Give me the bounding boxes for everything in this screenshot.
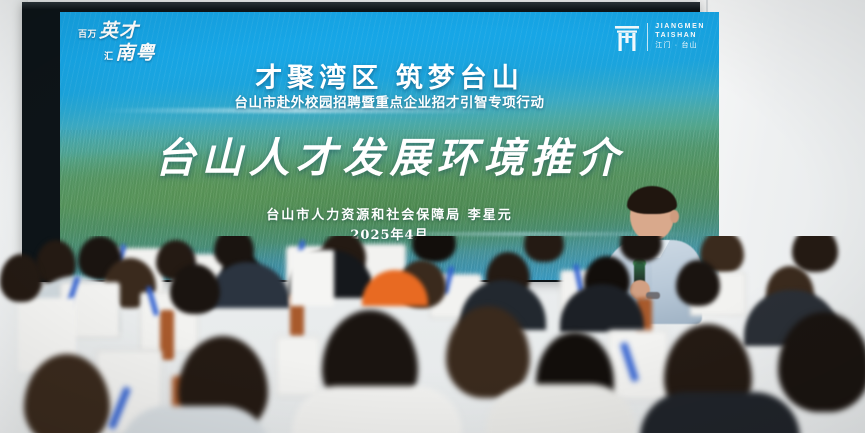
gate-archway-icon bbox=[614, 22, 640, 52]
audience-head bbox=[620, 236, 662, 262]
city-logo-text: JIANGMEN TAISHAN 江门 · 台山 bbox=[647, 23, 705, 51]
audience-head bbox=[412, 236, 456, 262]
audience-shoulders-foreground bbox=[292, 386, 462, 433]
slide-headline: 台山人才发展环境推介 bbox=[60, 124, 719, 184]
chair-back bbox=[276, 336, 320, 396]
audience-head bbox=[170, 264, 220, 314]
city-logo-cn: 江门 · 台山 bbox=[655, 42, 705, 51]
jiangmen-taishan-logo: JIANGMEN TAISHAN 江门 · 台山 bbox=[614, 22, 705, 52]
logo-left-line1-big: 英才 bbox=[99, 22, 139, 41]
slide-subtitle: 台山市赴外校园招聘暨重点企业招才引智专项行动 bbox=[60, 91, 719, 111]
chair-wooden-frame bbox=[160, 310, 174, 360]
audience-head bbox=[524, 236, 564, 262]
slide-title: 才聚湾区 筑梦台山 bbox=[60, 56, 719, 95]
city-logo-en-line1: JIANGMEN bbox=[655, 23, 705, 32]
seated-audience bbox=[0, 236, 865, 433]
audience-shoulders-foreground bbox=[640, 392, 800, 433]
audience-shoulders-foreground bbox=[486, 384, 636, 433]
chair-back bbox=[608, 330, 668, 400]
presenter-ear bbox=[670, 210, 679, 223]
city-logo-en-line2: TAISHAN bbox=[655, 32, 705, 41]
audience-head bbox=[792, 236, 838, 272]
tote-bag bbox=[290, 250, 334, 306]
logo-left-line1-small: 百万 bbox=[78, 30, 97, 39]
screenshot-root: 百万 英才 汇 南粤 bbox=[0, 0, 865, 433]
audience-head bbox=[0, 254, 42, 302]
presenter-hair bbox=[627, 186, 677, 214]
audience-head bbox=[676, 260, 720, 306]
